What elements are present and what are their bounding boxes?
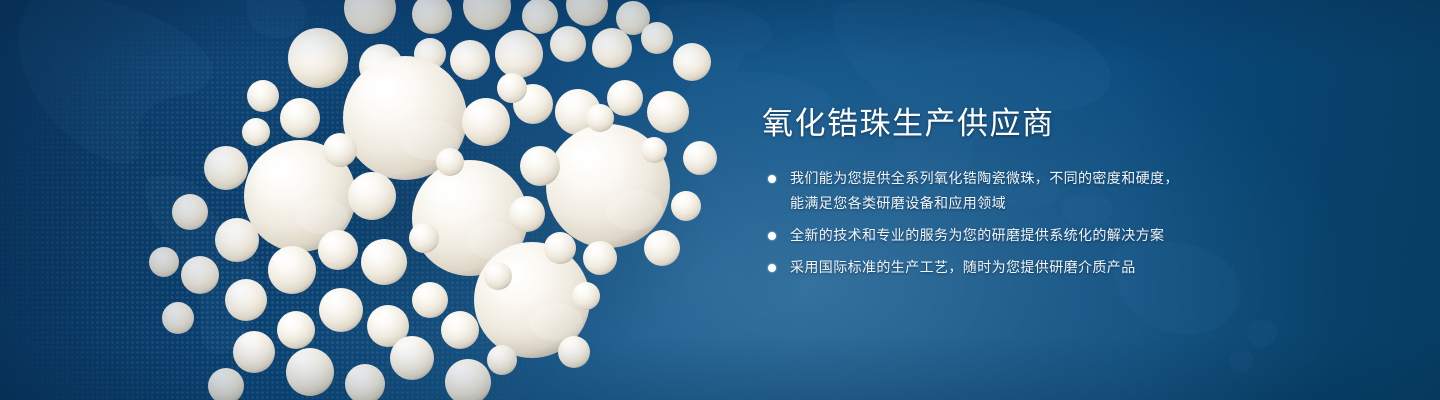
bullet-dot-icon: [768, 175, 776, 183]
list-item-line: 我们能为您提供全系列氧化锆陶瓷微珠，不同的密度和硬度，: [790, 166, 1232, 191]
list-item-line: 采用国际标准的生产工艺，随时为您提供研磨介质产品: [790, 255, 1232, 280]
hero-banner: 氧化锆珠生产供应商 我们能为您提供全系列氧化锆陶瓷微珠，不同的密度和硬度， 能满…: [0, 0, 1440, 400]
list-item-line: 全新的技术和专业的服务为您的研磨提供系统化的解决方案: [790, 223, 1232, 248]
feature-list: 我们能为您提供全系列氧化锆陶瓷微珠，不同的密度和硬度， 能满足您各类研磨设备和应…: [762, 166, 1232, 280]
banner-copy: 氧化锆珠生产供应商 我们能为您提供全系列氧化锆陶瓷微珠，不同的密度和硬度， 能满…: [762, 104, 1232, 280]
page-title: 氧化锆珠生产供应商: [762, 104, 1232, 144]
list-item: 全新的技术和专业的服务为您的研磨提供系统化的解决方案: [762, 223, 1232, 248]
list-item: 我们能为您提供全系列氧化锆陶瓷微珠，不同的密度和硬度， 能满足您各类研磨设备和应…: [762, 166, 1232, 216]
bullet-dot-icon: [768, 232, 776, 240]
bullet-dot-icon: [768, 264, 776, 272]
list-item-line: 能满足您各类研磨设备和应用领域: [790, 191, 1232, 216]
list-item: 采用国际标准的生产工艺，随时为您提供研磨介质产品: [762, 255, 1232, 280]
